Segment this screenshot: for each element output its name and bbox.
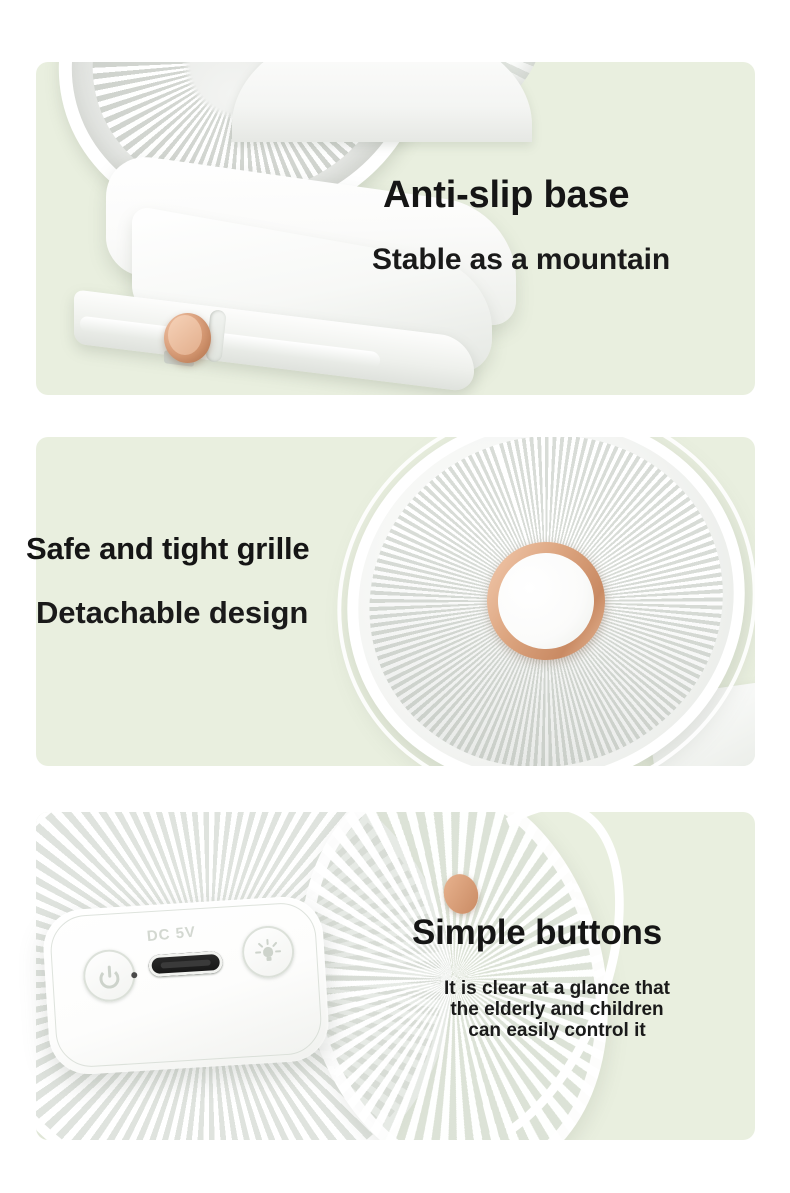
pivot-knob-rose-gold [164,313,211,363]
panel-1-subline: Stable as a mountain [372,243,670,277]
product-image-clip-fan-base [36,62,755,395]
light-bulb-icon [254,938,282,966]
feature-panel-anti-slip-base [36,62,755,395]
panel-3-body-line-3: can easily control it [412,1020,702,1041]
control-module: DC 5V [41,895,331,1077]
panel-3-body-line-1: It is clear at a glance that [412,978,702,999]
fan-hub-arc-graphic [232,62,532,142]
usb-c-port-icon[interactable] [148,951,223,977]
panel-1-headline: Anti-slip base [383,174,629,217]
panel-3-body: It is clear at a glance that the elderly… [412,978,702,1041]
grille-outer-rim-graphic [285,437,755,766]
panel-3-body-line-2: the elderly and children [412,999,702,1020]
panel-2-headline: Safe and tight grille [26,531,309,567]
product-feature-page: Anti-slip base Stable as a mountain Safe… [0,0,790,1193]
panel-3-headline: Simple buttons [412,913,662,953]
power-icon [99,965,120,986]
panel-2-subline: Detachable design [36,595,308,631]
